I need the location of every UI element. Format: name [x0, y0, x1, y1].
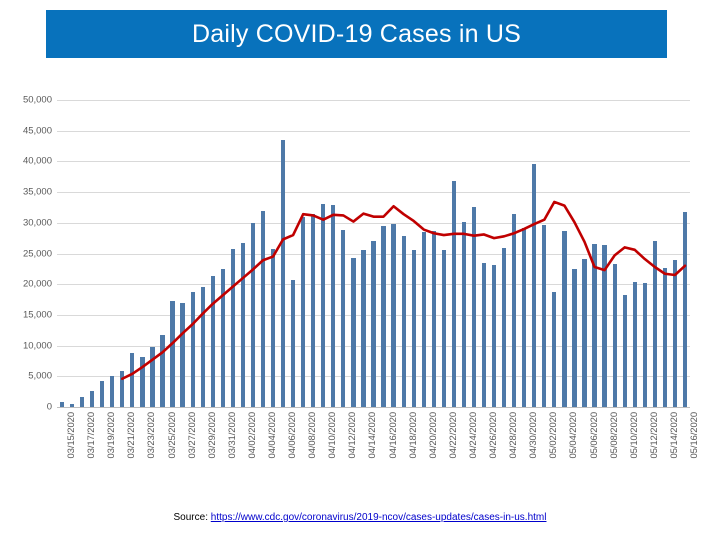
bar — [130, 353, 134, 407]
bar — [80, 397, 84, 407]
bar — [341, 230, 345, 407]
y-axis-tick-label: 15,000 — [0, 309, 52, 320]
gridline — [57, 161, 690, 162]
x-axis-tick-label: 03/27/2020 — [187, 412, 198, 459]
bar — [613, 264, 617, 407]
bar — [70, 404, 74, 407]
gridline — [57, 407, 690, 408]
bar — [572, 269, 576, 407]
x-axis-tick-label: 05/12/2020 — [649, 412, 660, 459]
bar — [60, 402, 64, 407]
x-axis-tick-label: 03/15/2020 — [66, 412, 77, 459]
x-axis-tick-label: 04/08/2020 — [307, 412, 318, 459]
bar — [281, 140, 285, 407]
bar — [331, 205, 335, 407]
bar — [582, 259, 586, 407]
bar — [512, 214, 516, 407]
bar — [221, 269, 225, 407]
bar — [231, 249, 235, 407]
bar — [402, 236, 406, 407]
bar — [271, 249, 275, 407]
y-axis-tick-label: 35,000 — [0, 187, 52, 198]
x-axis-tick-label: 05/06/2020 — [589, 412, 600, 459]
bar — [552, 292, 556, 407]
gridline — [57, 131, 690, 132]
x-axis-tick-label: 04/26/2020 — [488, 412, 499, 459]
bar — [422, 232, 426, 407]
x-axis-tick-label: 03/25/2020 — [167, 412, 178, 459]
x-axis-tick-label: 05/02/2020 — [548, 412, 559, 459]
x-axis-tick-label: 04/24/2020 — [468, 412, 479, 459]
bar — [683, 212, 687, 407]
bar — [602, 245, 606, 407]
x-axis-tick-label: 04/18/2020 — [408, 412, 419, 459]
bar — [502, 248, 506, 407]
bar — [110, 376, 114, 407]
x-axis-tick-label: 04/10/2020 — [327, 412, 338, 459]
gridline — [57, 192, 690, 193]
bar — [643, 283, 647, 407]
x-axis-tick-label: 04/22/2020 — [448, 412, 459, 459]
bar — [381, 226, 385, 407]
x-axis-tick-label: 04/06/2020 — [287, 412, 298, 459]
bar — [201, 287, 205, 407]
bar — [211, 276, 215, 407]
bar — [653, 241, 657, 407]
bar — [562, 231, 566, 407]
bar — [452, 181, 456, 407]
bar — [462, 222, 466, 407]
x-axis-tick-label: 04/12/2020 — [347, 412, 358, 459]
x-axis-tick-label: 04/14/2020 — [367, 412, 378, 459]
x-axis-tick-label: 03/19/2020 — [106, 412, 117, 459]
x-axis-tick-label: 04/20/2020 — [428, 412, 439, 459]
y-axis-tick-label: 30,000 — [0, 217, 52, 228]
x-axis-tick-label: 04/02/2020 — [247, 412, 258, 459]
bar — [522, 228, 526, 407]
bar — [482, 263, 486, 407]
bar — [140, 357, 144, 407]
title-banner: Daily COVID-19 Cases in US — [46, 10, 667, 58]
bar — [90, 391, 94, 407]
bar — [412, 250, 416, 407]
bar — [542, 225, 546, 407]
page-title: Daily COVID-19 Cases in US — [192, 20, 521, 49]
x-axis: 03/15/202003/17/202003/19/202003/21/2020… — [57, 410, 690, 496]
bar — [532, 164, 536, 407]
bar — [180, 303, 184, 407]
source-label: Source: — [174, 512, 211, 523]
x-axis-tick-label: 03/17/2020 — [86, 412, 97, 459]
y-axis-tick-label: 0 — [0, 402, 52, 413]
x-axis-tick-label: 05/10/2020 — [629, 412, 640, 459]
bar — [321, 204, 325, 407]
bar — [150, 347, 154, 407]
bar — [301, 217, 305, 407]
gridline — [57, 100, 690, 101]
bar — [442, 250, 446, 407]
x-axis-tick-label: 04/28/2020 — [508, 412, 519, 459]
bar — [291, 280, 295, 407]
bar — [472, 207, 476, 407]
bar — [391, 224, 395, 407]
bar — [160, 335, 164, 407]
source-note: Source: https://www.cdc.gov/coronavirus/… — [0, 512, 720, 523]
bar — [251, 223, 255, 407]
y-axis-tick-label: 40,000 — [0, 156, 52, 167]
bar — [311, 214, 315, 407]
x-axis-tick-label: 03/23/2020 — [146, 412, 157, 459]
x-axis-tick-label: 04/16/2020 — [388, 412, 399, 459]
bar — [623, 295, 627, 407]
source-link[interactable]: https://www.cdc.gov/coronavirus/2019-nco… — [211, 512, 547, 523]
plot-area — [57, 100, 690, 407]
x-axis-tick-label: 05/14/2020 — [669, 412, 680, 459]
bar — [371, 241, 375, 407]
y-axis-tick-label: 10,000 — [0, 340, 52, 351]
bar — [120, 371, 124, 407]
bar — [100, 381, 104, 407]
y-axis-tick-label: 45,000 — [0, 125, 52, 136]
chart-container: 05,00010,00015,00020,00025,00030,00035,0… — [0, 78, 720, 498]
x-axis-tick-label: 05/08/2020 — [609, 412, 620, 459]
y-axis-tick-label: 50,000 — [0, 95, 52, 106]
bar — [261, 211, 265, 407]
y-axis-tick-label: 25,000 — [0, 248, 52, 259]
x-axis-tick-label: 03/31/2020 — [227, 412, 238, 459]
bar — [191, 292, 195, 407]
x-axis-tick-label: 05/04/2020 — [568, 412, 579, 459]
y-axis-tick-label: 5,000 — [0, 371, 52, 382]
x-axis-tick-label: 03/21/2020 — [126, 412, 137, 459]
bar — [492, 265, 496, 407]
bar — [361, 250, 365, 407]
y-axis: 05,00010,00015,00020,00025,00030,00035,0… — [0, 100, 52, 407]
bar — [170, 301, 174, 407]
x-axis-tick-label: 03/29/2020 — [207, 412, 218, 459]
bar — [432, 231, 436, 407]
bar — [673, 260, 677, 407]
bar — [633, 282, 637, 407]
bar — [241, 243, 245, 407]
bar — [592, 244, 596, 407]
y-axis-tick-label: 20,000 — [0, 279, 52, 290]
x-axis-tick-label: 05/16/2020 — [689, 412, 700, 459]
x-axis-tick-label: 04/30/2020 — [528, 412, 539, 459]
gridline — [57, 223, 690, 224]
bar — [351, 258, 355, 407]
bar — [663, 268, 667, 407]
x-axis-tick-label: 04/04/2020 — [267, 412, 278, 459]
